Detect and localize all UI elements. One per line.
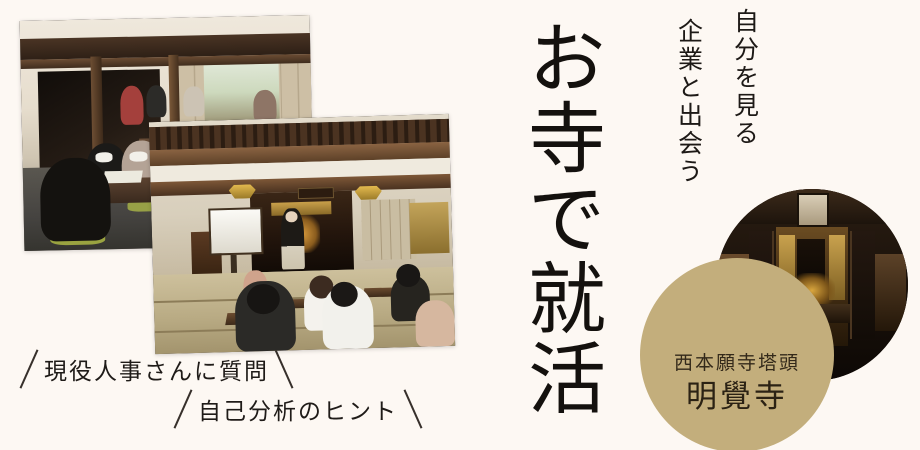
headline-vertical: お寺で就活 (505, 18, 601, 436)
promo-banner: お寺で就活 自分を見る 企業と出会う 西本願寺塔頭 明覺寺 現役 (0, 0, 920, 450)
photo-temple-hall-lecture (149, 114, 455, 354)
caption-ask-hr: 現役人事さんに質問 (28, 348, 285, 390)
subcopy-self-discovery: 自分を見る (728, 8, 759, 148)
slash-left-icon (174, 389, 193, 428)
temple-badge-name: 明覺寺 (686, 381, 788, 412)
slash-left-icon (20, 349, 39, 388)
temple-badge-subtitle: 西本願寺塔頭 (674, 354, 800, 373)
slash-right-icon (404, 389, 423, 428)
subcopy-meet-companies: 企業と出会う (672, 18, 703, 186)
caption-ask-hr-label: 現役人事さんに質問 (44, 352, 269, 386)
slash-right-icon (275, 349, 294, 388)
caption-self-analysis: 自己分析のヒント (182, 388, 414, 430)
temple-name-badge: 西本願寺塔頭 明覺寺 (640, 258, 834, 450)
caption-self-analysis-label: 自己分析のヒント (198, 392, 398, 426)
